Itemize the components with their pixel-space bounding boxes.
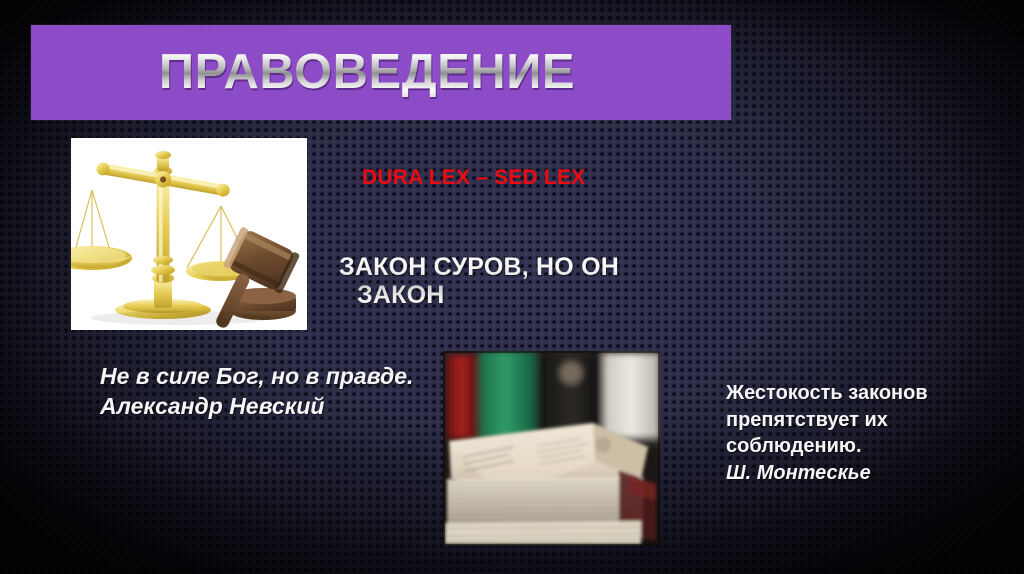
quote-nevsky: Не в силе Бог, но в правде. Александр Не…: [100, 362, 420, 422]
quote-montesquieu: Жестокость законов препятствует их соблю…: [726, 380, 1016, 486]
quote-nevsky-text: Не в силе Бог, но в правде.: [100, 363, 413, 389]
quote-nevsky-author: Александр Невский: [100, 392, 420, 422]
legal-documents-image: [443, 351, 660, 546]
quote-montesquieu-author: Ш. Монтескье: [726, 460, 1016, 487]
presentation-slide: ПРАВОВЕДЕНИЕ: [0, 0, 1024, 574]
quote-montesquieu-text: Жестокость законов препятствует их соблю…: [726, 382, 928, 457]
scales-of-justice-illustration: [71, 138, 307, 330]
russian-motto-text: ЗАКОН СУРОВ, НО ОН ЗАКОН: [339, 253, 679, 309]
scales-of-justice-image: [71, 138, 307, 330]
title-banner: ПРАВОВЕДЕНИЕ: [31, 25, 731, 120]
russian-motto-line-2: ЗАКОН: [339, 281, 679, 309]
russian-motto-line-1: ЗАКОН СУРОВ, НО ОН: [339, 253, 619, 281]
latin-motto-text: DURA LEX – SED LEX: [362, 166, 692, 189]
legal-documents-illustration: [443, 351, 660, 546]
page-title: ПРАВОВЕДЕНИЕ: [159, 48, 575, 97]
